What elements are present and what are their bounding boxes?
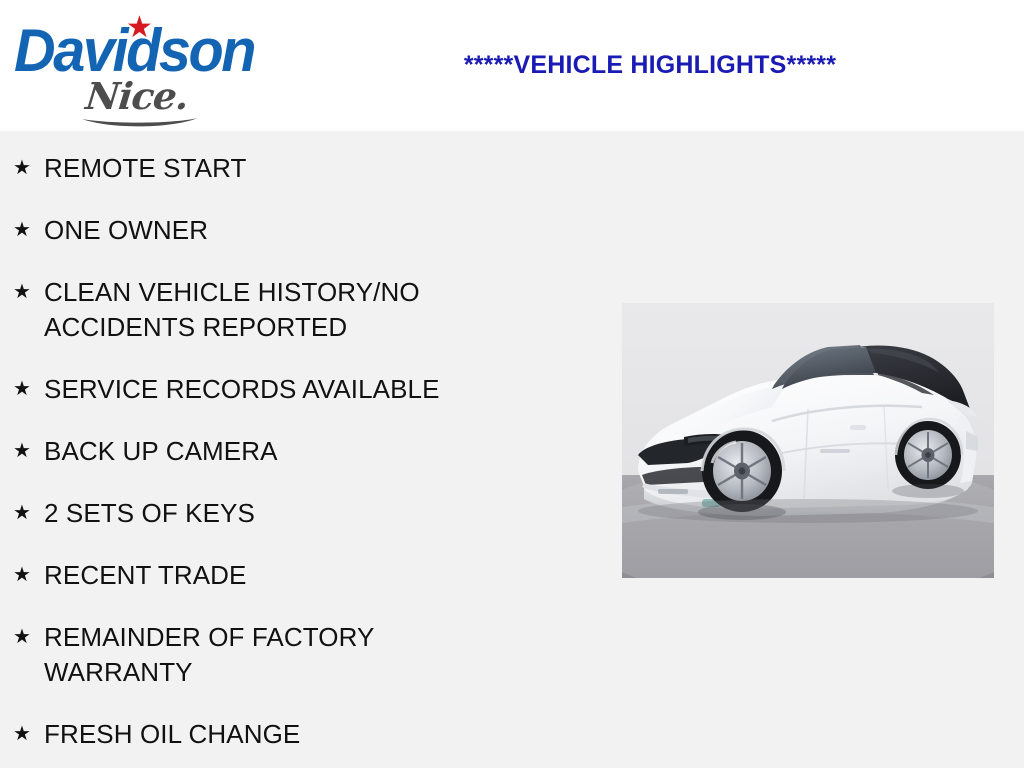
star-bullet-icon: ★ <box>13 372 44 407</box>
list-item: ★ BACK UP CAMERA <box>0 434 600 469</box>
list-item-label: ONE OWNER <box>44 213 514 248</box>
logo-script-text: Nice. <box>84 76 228 116</box>
star-bullet-icon: ★ <box>13 496 44 531</box>
vehicle-highlights-list: ★ REMOTE START ★ ONE OWNER ★ CLEAN VEHIC… <box>0 131 600 752</box>
star-bullet-icon: ★ <box>13 717 44 752</box>
list-item: ★ REMAINDER OF FACTORY WARRANTY <box>0 620 600 690</box>
dealer-logo: Davidson ★ Nice. <box>14 8 274 123</box>
star-bullet-icon: ★ <box>13 620 44 655</box>
list-item-label: SERVICE RECORDS AVAILABLE <box>44 372 514 407</box>
logo-star-icon: ★ <box>126 15 152 41</box>
star-bullet-icon: ★ <box>13 213 44 248</box>
list-item-label: REMAINDER OF FACTORY WARRANTY <box>44 620 514 690</box>
logo-swoosh-icon <box>80 116 200 130</box>
list-item: ★ CLEAN VEHICLE HISTORY/NO ACCIDENTS REP… <box>0 275 600 345</box>
page-title: *****VEHICLE HIGHLIGHTS***** <box>300 50 1000 80</box>
list-item-label: RECENT TRADE <box>44 558 514 593</box>
list-item-label: BACK UP CAMERA <box>44 434 514 469</box>
list-item-label: 2 SETS OF KEYS <box>44 496 514 531</box>
list-item-label: CLEAN VEHICLE HISTORY/NO ACCIDENTS REPOR… <box>44 275 514 345</box>
vehicle-photo <box>622 303 994 578</box>
list-item: ★ SERVICE RECORDS AVAILABLE <box>0 372 600 407</box>
star-bullet-icon: ★ <box>13 275 44 310</box>
list-item-label: FRESH OIL CHANGE <box>44 717 514 752</box>
star-bullet-icon: ★ <box>13 151 44 186</box>
list-item: ★ FRESH OIL CHANGE <box>0 717 600 752</box>
star-bullet-icon: ★ <box>13 434 44 469</box>
list-item: ★ RECENT TRADE <box>0 558 600 593</box>
list-item: ★ ONE OWNER <box>0 213 600 248</box>
list-item: ★ REMOTE START <box>0 151 600 186</box>
list-item-label: REMOTE START <box>44 151 514 186</box>
list-item: ★ 2 SETS OF KEYS <box>0 496 600 531</box>
star-bullet-icon: ★ <box>13 558 44 593</box>
vehicle-photo-illustration <box>622 303 994 578</box>
